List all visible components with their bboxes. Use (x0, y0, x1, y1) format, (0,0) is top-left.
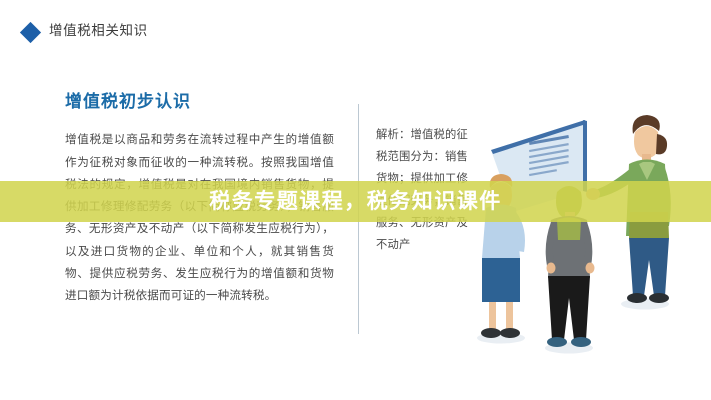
diamond-icon (20, 21, 41, 42)
slide-left-column: 增值税初步认识 增值税是以商品和劳务在流转过程中产生的增值额作为征税对象而征收的… (33, 72, 358, 372)
page-title: 增值税相关知识 (49, 24, 148, 38)
watermark-banner: 税务专题课程，税务知识课件 (0, 181, 711, 222)
page-header: 增值税相关知识 (0, 0, 711, 62)
presentation-illustration (473, 72, 711, 372)
watermark-banner-text: 税务专题课程，税务知识课件 (209, 191, 502, 212)
slide-heading: 增值税初步认识 (65, 92, 334, 112)
slide-card: 增值税初步认识 增值税是以商品和劳务在流转过程中产生的增值额作为征税对象而征收的… (33, 72, 711, 372)
